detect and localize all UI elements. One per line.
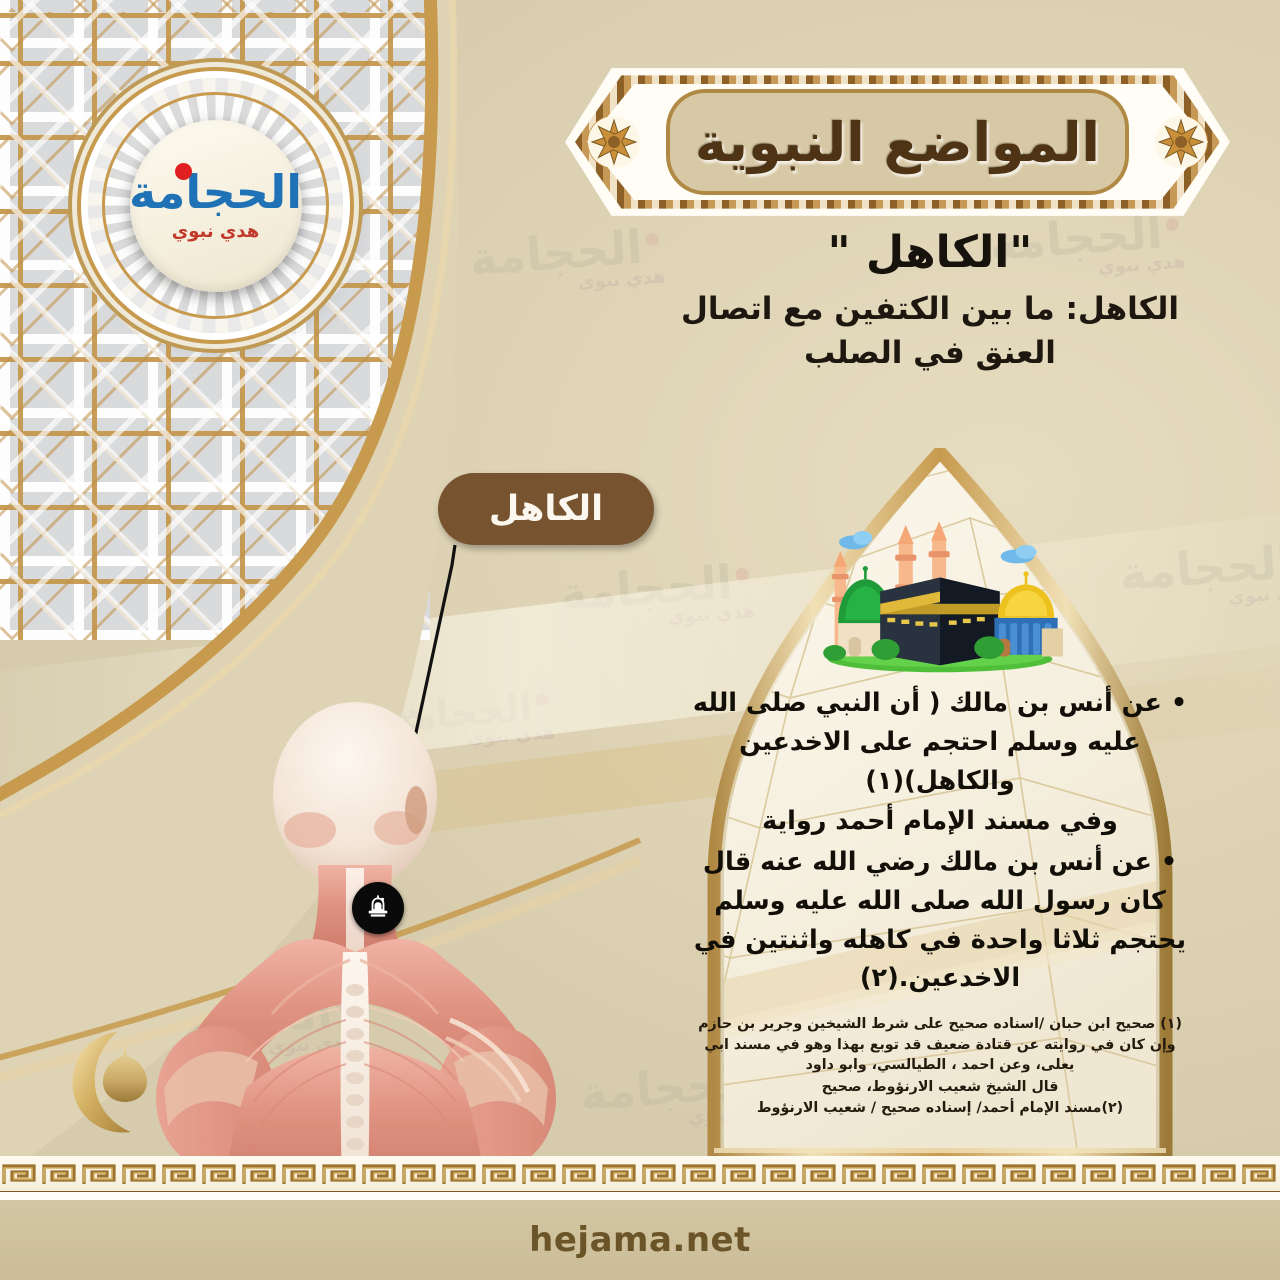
logo-tagline: هدي نبوي [172, 221, 260, 242]
callout-label-text: الكاهل [489, 489, 603, 529]
footer-bar: hejama.net [0, 1200, 1280, 1280]
footnotes-block: (١) صحيح ابن حبان /اسناده صحيح على شرط ا… [684, 1014, 1196, 1120]
page-title: المواضع النبوية [695, 111, 1100, 174]
anatomy-back-illustration [150, 690, 570, 1190]
cloud-icon [839, 531, 872, 549]
poster-root: الحجامةهدي نبوي الحجامةهدي نبوي الحجامةه… [0, 0, 1280, 1280]
star-rosette-icon [587, 115, 641, 169]
subject-definition: الكاهل: ما بين الكتفين مع اتصال العنق في… [600, 287, 1260, 375]
footnote-line: (٢)مسند الإمام أحمد/ إسناده صحيح / شعيب … [684, 1098, 1196, 1119]
website-url[interactable]: hejama.net [529, 1220, 751, 1260]
logo-disc: الحجامة هدي نبوي [130, 120, 302, 292]
cloud-icon [1001, 545, 1037, 563]
footnote-line: (١) صحيح ابن حبان /اسناده صحيح على شرط ا… [684, 1014, 1196, 1076]
cupping-point-marker[interactable] [352, 882, 404, 934]
hadith-item: • عن أنس بن مالك ( أن النبي صلى الله علي… [684, 684, 1196, 800]
arch-content: • عن أنس بن مالك ( أن النبي صلى الله علي… [684, 488, 1196, 1120]
brand-logo[interactable]: الحجامة هدي نبوي [88, 78, 343, 333]
content-arch-panel: • عن أنس بن مالك ( أن النبي صلى الله علي… [640, 448, 1240, 1178]
logo-red-dot [175, 163, 192, 180]
hadith-item: • عن أنس بن مالك رضي الله عنه قال كان رس… [684, 843, 1196, 998]
hadith-text-block: • عن أنس بن مالك ( أن النبي صلى الله علي… [684, 684, 1196, 1000]
greek-key-pattern [0, 1160, 1280, 1188]
holy-sites-illustration [790, 516, 1090, 674]
star-rosette-icon [1154, 115, 1208, 169]
banner-title-plate: المواضع النبوية [661, 84, 1134, 200]
crescent-moon-icon [55, 1020, 185, 1145]
footer-divider [0, 1192, 1280, 1200]
logo-brand-text: الحجامة [129, 169, 302, 215]
subject-title: "الكاهل " [600, 228, 1260, 279]
greek-key-border [0, 1156, 1280, 1194]
title-banner: المواضع النبوية [565, 58, 1230, 226]
cupping-jar-icon [363, 893, 393, 923]
dome-of-the-rock-icon [994, 571, 1062, 656]
footnote-line: قال الشيخ شعيب الارنؤوط، صحيح [684, 1077, 1196, 1098]
hadith-item: وفي مسند الإمام أحمد رواية [684, 802, 1196, 841]
subject-heading-block: "الكاهل " الكاهل: ما بين الكتفين مع اتصا… [600, 228, 1260, 375]
callout-label-kahil[interactable]: الكاهل [438, 473, 654, 545]
